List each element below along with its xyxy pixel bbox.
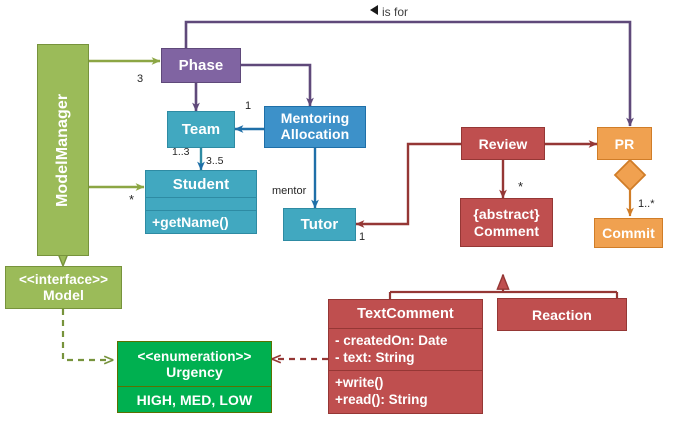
label-tutor-multiplicity: 1: [359, 231, 365, 243]
edge-phase-pr: [186, 22, 630, 126]
class-student-operations: +getName(): [146, 210, 256, 233]
class-comment-title: Comment: [474, 223, 539, 239]
class-textcomment-attribute: - text: String: [335, 350, 415, 367]
class-urgency-stereotype: <<enumeration>>: [137, 349, 251, 364]
class-textcomment-attributes: - createdOn: Date - text: String: [329, 328, 482, 370]
class-model-stereotype: <<interface>>: [19, 272, 108, 287]
class-commit[interactable]: Commit: [594, 218, 663, 248]
class-student-attributes: [146, 197, 256, 210]
class-mentoringallocation[interactable]: Mentoring Allocation: [264, 106, 366, 148]
class-textcomment-title: TextComment: [329, 300, 482, 328]
class-urgency-title: Urgency: [166, 364, 223, 380]
triangle-left-icon: [370, 5, 378, 15]
uml-class-diagram: ModelManager <<interface>> Model <<enume…: [0, 0, 680, 424]
class-mentoringallocation-title-line1: Mentoring: [281, 111, 350, 127]
class-phase[interactable]: Phase: [161, 48, 241, 83]
class-student-title: Student: [146, 171, 256, 197]
class-modelmanager-title: ModelManager: [38, 45, 88, 255]
label-is-for-text: is for: [382, 5, 408, 19]
class-textcomment[interactable]: TextComment - createdOn: Date - text: St…: [328, 299, 483, 414]
class-model-title: Model: [43, 287, 84, 303]
label-modelmanager-student-multiplicity: *: [129, 192, 134, 207]
class-model[interactable]: <<interface>> Model: [5, 266, 122, 309]
class-textcomment-attribute: - createdOn: Date: [335, 333, 448, 350]
edge-model-urgency: [63, 309, 113, 360]
class-textcomment-operation: +write(): [335, 375, 383, 392]
label-modelmanager-phase-multiplicity: 3: [137, 73, 143, 85]
class-student[interactable]: Student +getName(): [145, 170, 257, 234]
class-phase-title: Phase: [162, 49, 240, 82]
class-pr-title: PR: [598, 128, 651, 159]
class-modelmanager[interactable]: ModelManager: [37, 44, 89, 256]
class-commit-title: Commit: [595, 219, 662, 247]
class-tutor-title: Tutor: [284, 209, 355, 240]
class-textcomment-operation: +read(): String: [335, 392, 428, 409]
label-team-student-lower-multiplicity: 3..5: [206, 155, 224, 167]
label-pr-commit-multiplicity: 1..*: [638, 198, 655, 210]
edge-phase-mentoringallocation: [241, 65, 310, 106]
class-textcomment-operations: +write() +read(): String: [329, 370, 482, 413]
class-urgency[interactable]: <<enumeration>> Urgency HIGH, MED, LOW: [117, 341, 272, 413]
class-pr[interactable]: PR: [597, 127, 652, 160]
class-team[interactable]: Team: [167, 111, 235, 148]
class-review[interactable]: Review: [461, 127, 545, 160]
class-reaction-title: Reaction: [498, 299, 626, 330]
class-tutor[interactable]: Tutor: [283, 208, 356, 241]
edge-review-tutor: [356, 144, 461, 224]
class-comment[interactable]: {abstract} Comment: [460, 198, 553, 247]
aggregation-diamond: [615, 160, 645, 190]
label-is-for: is for: [370, 5, 408, 19]
label-mentor-role: mentor: [272, 185, 306, 197]
class-team-title: Team: [168, 112, 234, 147]
class-urgency-values: HIGH, MED, LOW: [118, 386, 271, 412]
class-mentoringallocation-title-line2: Allocation: [281, 127, 350, 143]
class-comment-stereotype: {abstract}: [473, 206, 539, 222]
label-allocation-team-multiplicity: 1: [245, 100, 251, 112]
label-review-comment-multiplicity: *: [518, 179, 523, 194]
class-reaction[interactable]: Reaction: [497, 298, 627, 331]
label-team-student-upper-multiplicity: 1..3: [172, 146, 190, 158]
class-review-title: Review: [462, 128, 544, 159]
